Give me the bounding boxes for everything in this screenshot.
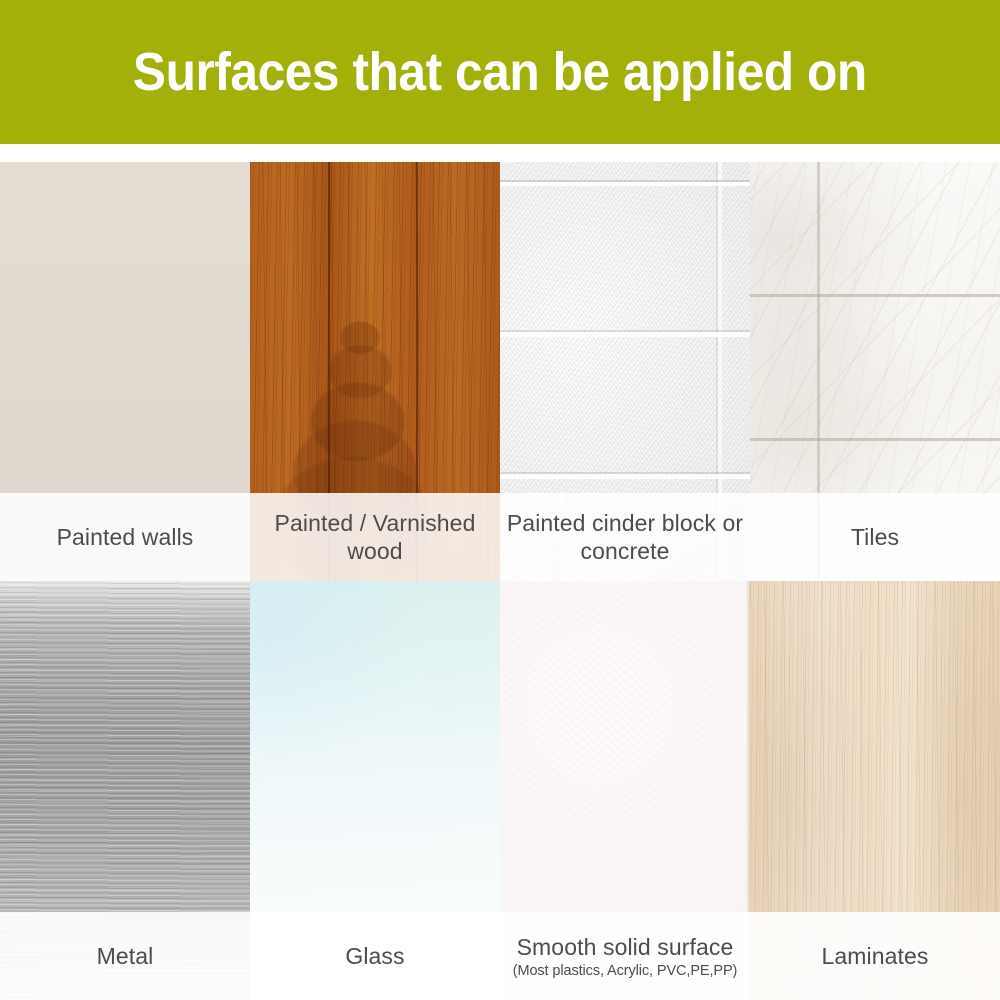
surface-cell-painted-varnished-wood[interactable]: Painted / Varnished wood: [250, 162, 500, 581]
surface-cell-painted-walls[interactable]: Painted walls: [0, 162, 250, 581]
infographic-page: Surfaces that can be applied on Painted …: [0, 0, 1000, 1000]
header-banner: Surfaces that can be applied on: [0, 0, 1000, 144]
caption-title: Smooth solid surface: [517, 933, 734, 961]
caption-subtitle: (Most plastics, Acrylic, PVC,PE,PP): [513, 962, 738, 980]
surface-cell-tiles[interactable]: Tiles: [750, 162, 1000, 581]
surface-cell-laminates[interactable]: Laminates: [750, 581, 1000, 1000]
caption-title: Painted walls: [57, 523, 194, 551]
caption-title: Painted cinder block or concrete: [506, 509, 744, 565]
caption-title: Glass: [345, 942, 404, 970]
caption-metal: Metal: [0, 912, 250, 1000]
page-title: Surfaces that can be applied on: [133, 43, 867, 101]
surface-cell-glass[interactable]: Glass: [250, 581, 500, 1000]
caption-painted-varnished-wood: Painted / Varnished wood: [250, 493, 500, 581]
surface-cell-metal[interactable]: Metal: [0, 581, 250, 1000]
caption-title: Tiles: [851, 523, 899, 551]
caption-glass: Glass: [250, 912, 500, 1000]
caption-title: Metal: [97, 942, 154, 970]
surface-cell-painted-cinder-block[interactable]: Painted cinder block or concrete: [500, 162, 750, 581]
surface-grid: Painted walls Painted / Varnished wood P…: [0, 162, 1000, 1000]
caption-painted-walls: Painted walls: [0, 493, 250, 581]
caption-title: Laminates: [821, 942, 928, 970]
caption-painted-cinder-block: Painted cinder block or concrete: [500, 493, 750, 581]
surface-cell-smooth-solid-surface[interactable]: Smooth solid surface (Most plastics, Acr…: [500, 581, 750, 1000]
caption-smooth-solid-surface: Smooth solid surface (Most plastics, Acr…: [500, 912, 750, 1000]
caption-title: Painted / Varnished wood: [256, 509, 494, 565]
caption-laminates: Laminates: [750, 912, 1000, 1000]
caption-tiles: Tiles: [750, 493, 1000, 581]
